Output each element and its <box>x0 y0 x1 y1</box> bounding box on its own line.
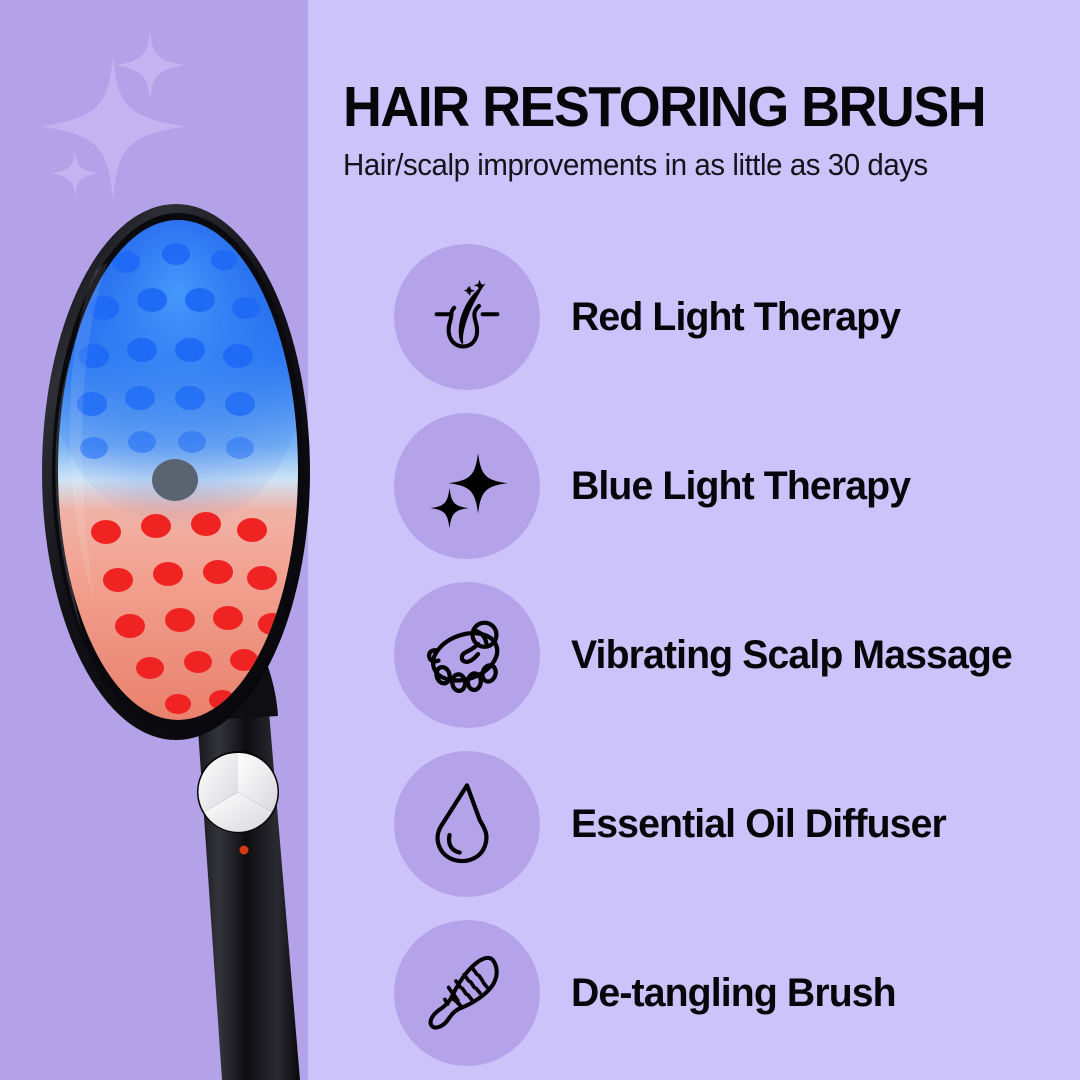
feature-badge <box>394 582 540 728</box>
infographic-canvas: HAIR RESTORING BRUSH Hair/scalp improvem… <box>0 0 1080 1080</box>
feature-label: De-tangling Brush <box>571 971 896 1015</box>
scalp-massager-icon <box>421 609 513 701</box>
header: HAIR RESTORING BRUSH Hair/scalp improvem… <box>343 78 1043 183</box>
sparkle-medium-icon <box>113 28 187 104</box>
feature-item-vibrating-scalp-massage[interactable]: Vibrating Scalp Massage <box>394 570 1054 739</box>
sparkles-icon <box>421 440 513 532</box>
feature-item-red-light-therapy[interactable]: Red Light Therapy <box>394 232 1054 401</box>
feature-badge <box>394 244 540 390</box>
feature-label: Blue Light Therapy <box>571 464 910 508</box>
page-title: HAIR RESTORING BRUSH <box>343 78 1005 136</box>
feature-item-essential-oil-diffuser[interactable]: Essential Oil Diffuser <box>394 739 1054 908</box>
sparkle-small-icon <box>50 148 100 200</box>
feature-badge <box>394 920 540 1066</box>
feature-label: Red Light Therapy <box>571 295 900 339</box>
hairbrush-icon <box>421 947 513 1039</box>
feature-badge <box>394 413 540 559</box>
feature-item-de-tangling-brush[interactable]: De-tangling Brush <box>394 908 1054 1077</box>
feature-list: Red Light Therapy Blue Light Therapy <box>394 232 1054 1077</box>
hair-follicle-icon <box>421 271 513 363</box>
feature-label: Essential Oil Diffuser <box>571 802 946 846</box>
page-subtitle: Hair/scalp improvements in as little as … <box>343 147 1019 183</box>
feature-label: Vibrating Scalp Massage <box>571 633 1012 677</box>
feature-item-blue-light-therapy[interactable]: Blue Light Therapy <box>394 401 1054 570</box>
left-panel <box>0 0 308 1080</box>
feature-badge <box>394 751 540 897</box>
water-droplet-icon <box>421 778 513 870</box>
